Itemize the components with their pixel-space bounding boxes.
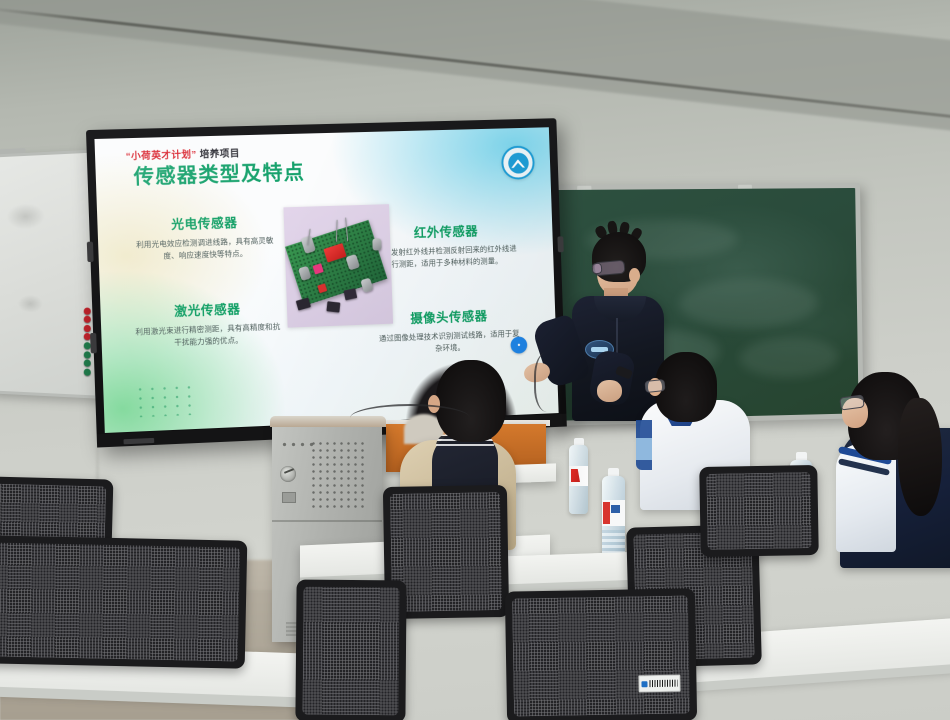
whiteboard bbox=[0, 149, 101, 399]
hanging-cable bbox=[350, 404, 470, 432]
ic-package bbox=[326, 301, 340, 312]
display-side-button[interactable] bbox=[557, 236, 563, 252]
teacher-ear bbox=[629, 268, 640, 283]
sensor-heading: 激光传感器 bbox=[131, 297, 283, 322]
display-side-button[interactable] bbox=[90, 333, 97, 354]
slide-blue-badge-label: • bbox=[517, 341, 520, 350]
asset-tag-logo bbox=[641, 681, 647, 687]
slide-title: 传感器类型及特点 bbox=[133, 156, 305, 190]
whiteboard-smudge bbox=[18, 295, 43, 313]
lectern-panel-seam bbox=[272, 520, 382, 522]
lectern-indicator-holes bbox=[280, 440, 314, 448]
lectern-label-plate bbox=[282, 492, 296, 503]
empty-chair-lectern-side[interactable] bbox=[295, 580, 406, 720]
sensor-card-photoelectric: 光电传感器 利用光电效应检测调进线路，具有高灵敏度、响应速度快等特点。 bbox=[128, 210, 281, 263]
water-bottle-2[interactable] bbox=[598, 468, 628, 562]
classroom-photo: “小荷英才计划” 培养项目 传感器类型及特点 光电传感器 利用光电效应检测调进线… bbox=[0, 0, 950, 720]
ic-package bbox=[296, 297, 311, 310]
slide-dot-decoration bbox=[134, 383, 194, 418]
whiteboard-magnet[interactable] bbox=[84, 368, 91, 375]
bottle-cap bbox=[796, 452, 807, 460]
display-side-button[interactable] bbox=[87, 242, 94, 262]
chair-mesh-back bbox=[706, 472, 811, 550]
sensor-card-laser: 激光传感器 利用激光束进行精密测距，具有高精度和抗干扰能力强的优点。 bbox=[131, 297, 284, 351]
asset-tag-barcode bbox=[649, 680, 677, 687]
chair-mesh-back bbox=[0, 542, 240, 661]
empty-chair-center-front[interactable] bbox=[505, 588, 697, 720]
chair-mesh-back bbox=[390, 492, 502, 612]
perfboard-circuit-photo bbox=[283, 204, 393, 327]
whiteboard-magnet[interactable] bbox=[84, 360, 91, 367]
chair-mesh-back bbox=[512, 595, 690, 716]
display-brand-mark bbox=[123, 438, 154, 444]
whiteboard-magnet[interactable] bbox=[84, 316, 91, 323]
bottle-cap bbox=[608, 468, 619, 476]
chair-mesh-back bbox=[302, 587, 399, 716]
water-bottle-1[interactable] bbox=[566, 438, 591, 514]
whiteboard-magnet[interactable] bbox=[84, 307, 91, 314]
mountain-wave-brand-logo bbox=[501, 145, 535, 180]
eyeglasses-left-lens bbox=[592, 263, 603, 275]
student-eyeglasses bbox=[644, 379, 665, 393]
whiteboard-magnet[interactable] bbox=[84, 325, 91, 332]
brand-logo-core bbox=[507, 152, 528, 173]
student-chair-back-right[interactable] bbox=[699, 465, 819, 557]
empty-chair-left-front[interactable] bbox=[0, 535, 247, 668]
ic-package bbox=[344, 288, 358, 300]
hanging-cable bbox=[534, 352, 566, 412]
slide-blue-badge[interactable]: • bbox=[510, 336, 527, 353]
whiteboard-clip bbox=[0, 148, 26, 155]
ponytail bbox=[898, 398, 942, 516]
equipment-asset-tag bbox=[638, 675, 680, 693]
sensor-body: 通过图像处理技术识别测试线路，适用于复杂环境。 bbox=[376, 328, 524, 358]
sensor-body: 利用光电效应检测调进线路，具有高灵敏度、响应速度快等特点。 bbox=[129, 235, 282, 264]
electrolytic-cap bbox=[372, 238, 381, 250]
sensor-body: 通过发射红外线并检测反射回来的红外线进行测距，适用于多种材料的测量。 bbox=[373, 243, 521, 272]
sensor-body: 利用激光束进行精密测距，具有高精度和抗干扰能力强的优点。 bbox=[132, 321, 284, 351]
whiteboard-smudge bbox=[6, 203, 45, 230]
bottle-label-blue bbox=[611, 505, 620, 513]
bottle-cap bbox=[574, 438, 584, 445]
teacher-right-hand bbox=[597, 380, 622, 402]
sensor-heading: 红外传感器 bbox=[372, 219, 520, 243]
chalk-residue bbox=[739, 337, 838, 379]
uniform-logo-patch bbox=[636, 438, 652, 460]
sensor-heading: 光电传感器 bbox=[128, 210, 280, 234]
chalk-residue bbox=[679, 277, 819, 329]
lectern-speaker-grille bbox=[310, 440, 366, 512]
bottle-label-red bbox=[603, 502, 610, 524]
sensor-card-camera: 摄像头传感器 通过图像处理技术识别测试线路，适用于复杂环境。 bbox=[375, 304, 524, 357]
sensor-card-infrared: 红外传感器 通过发射红外线并检测反射回来的红外线进行测距，适用于多种材料的测量。 bbox=[372, 219, 521, 271]
sensor-heading: 摄像头传感器 bbox=[375, 304, 523, 328]
